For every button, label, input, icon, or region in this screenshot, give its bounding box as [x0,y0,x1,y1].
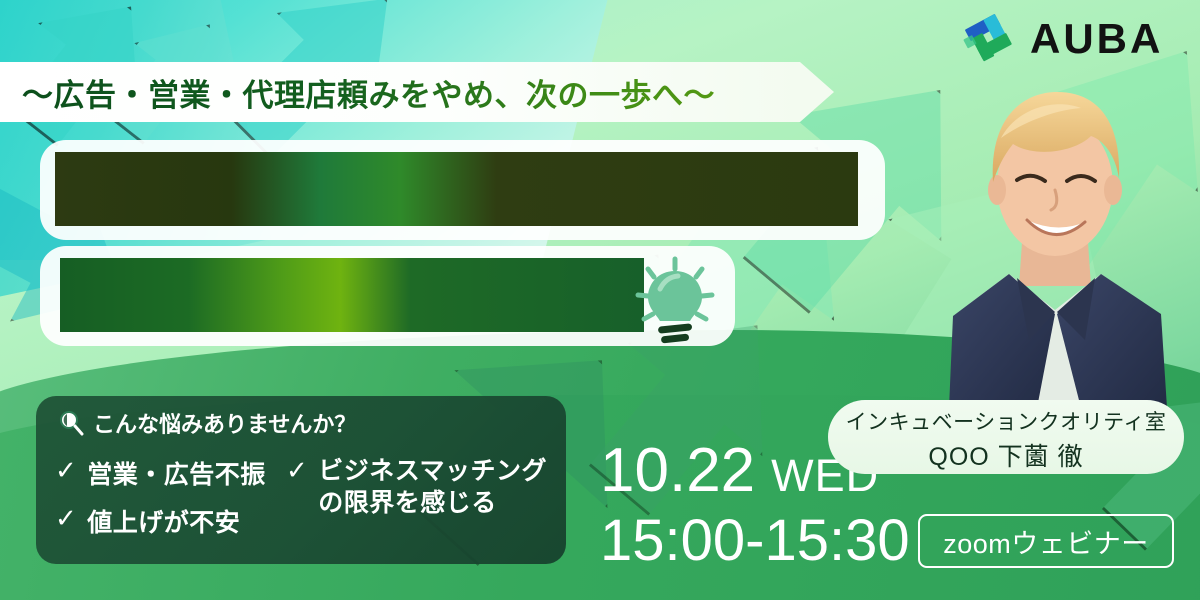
speaker-photo [905,78,1200,408]
headline-line-1: 新たな売上を創るための [55,152,858,226]
list-item-label-line2: の限界を感じる [318,489,497,517]
pain-points-list-right: ✓ ビジネスマッチング の限界を感じる [286,455,566,531]
check-icon: ✓ [55,457,77,483]
list-item-label: ビジネスマッチング の限界を感じる [318,455,547,519]
speaker-organization: インキュベーションクオリティ室 [828,406,1184,436]
event-date-number: 10.22 [600,440,755,502]
auba-logo-mark-icon [962,13,1018,65]
zoom-webinar-badge-label: zoomウェビナー [943,522,1149,561]
tagline-text: 〜広告・営業・代理店頼みをやめ、次の一歩へ〜 [22,66,812,118]
magnifier-icon [58,410,84,436]
list-item: ✓ ビジネスマッチング の限界を感じる [286,455,566,519]
list-item-label-line1: ビジネスマッチング [318,457,547,485]
pain-points-heading: こんな悩みありませんか？ [58,406,356,440]
list-item-label: 値上げが不安 [87,503,240,539]
auba-logo[interactable]: AUBA [962,10,1190,68]
lightbulb-icon [630,255,720,350]
speaker-name: QOO 下薗 徹 [828,437,1184,473]
headline-line-2: 事業戦略セミナー [60,258,644,332]
event-time: 15:00-15:30 [600,512,910,570]
pain-points-heading-text: こんな悩みありませんか？ [93,407,356,439]
check-icon: ✓ [286,457,308,483]
zoom-webinar-badge[interactable]: zoomウェビナー [918,514,1174,568]
webinar-banner: AUBA 〜広告・営業・代理店頼みをやめ、次の一歩へ〜 新たな売上を創るための … [0,0,1200,600]
auba-logo-text: AUBA [1030,18,1163,60]
check-icon: ✓ [55,505,77,531]
list-item-label: 営業・広告不振 [87,455,266,491]
